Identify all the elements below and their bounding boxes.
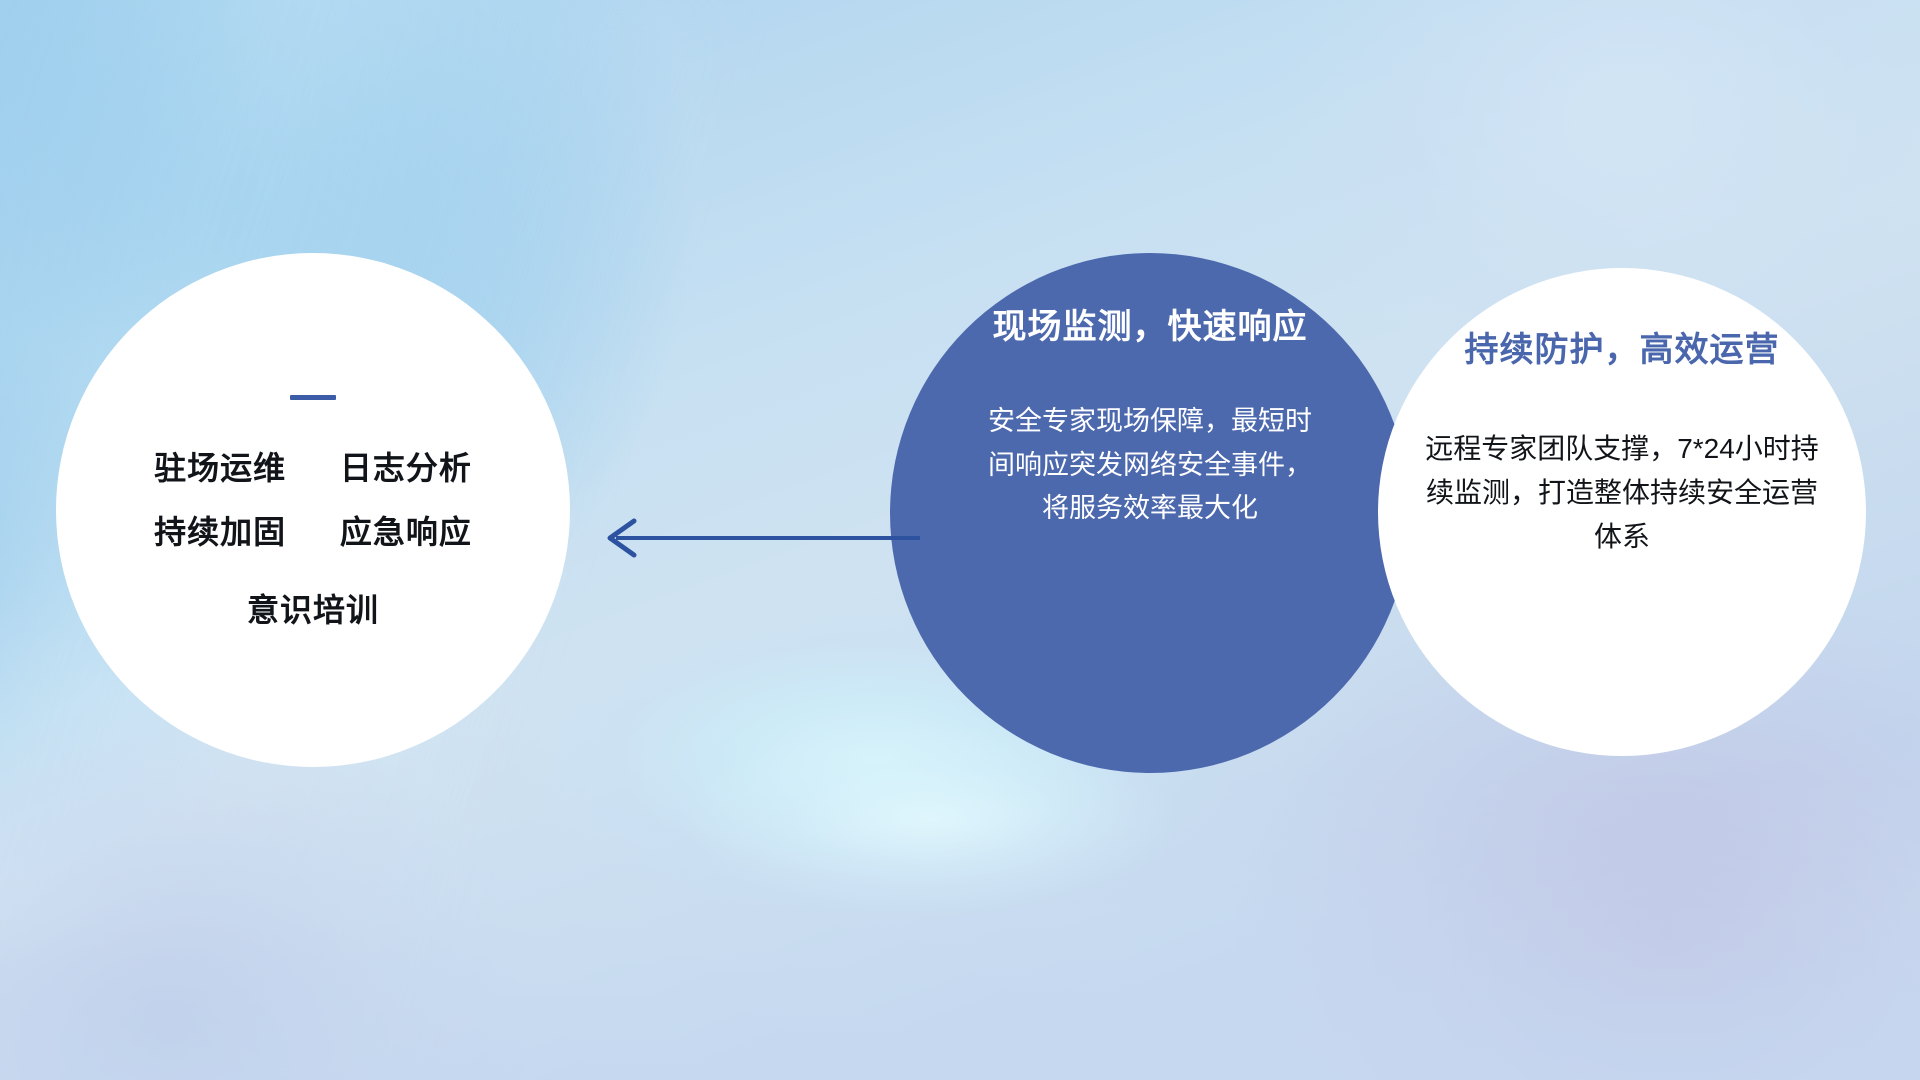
capability-tag: 持续加固 xyxy=(154,516,286,548)
right-circle-heading: 持续防护，高效运营 xyxy=(1465,322,1780,371)
horizontal-dash-icon xyxy=(290,395,336,400)
diagram-canvas: 现场监测，快速响应 安全专家现场保障，最短时间响应突发网络安全事件，将服务效率最… xyxy=(0,0,1920,1080)
right-circle-body-text: 远程专家团队支撑，7*24小时持续监测，打造整体持续安全运营体系 xyxy=(1415,427,1829,560)
right-circle-continuous-protection[interactable]: 持续防护，高效运营 远程专家团队支撑，7*24小时持续监测，打造整体持续安全运营… xyxy=(1378,268,1866,756)
center-circle-heading: 现场监测，快速响应 xyxy=(993,299,1308,348)
left-circle-line: 持续加固 应急响应 xyxy=(154,516,472,548)
left-circle-line: 驻场运维 日志分析 xyxy=(154,452,472,484)
capability-tag: 日志分析 xyxy=(340,452,472,484)
left-circle-service-capabilities[interactable]: 驻场运维 日志分析 持续加固 应急响应 意识培训 xyxy=(56,253,570,767)
center-circle-body-text: 安全专家现场保障，最短时间响应突发网络安全事件，将服务效率最大化 xyxy=(985,400,1315,531)
arrow-left-icon xyxy=(590,508,920,572)
capability-tag: 驻场运维 xyxy=(154,452,286,484)
center-circle-field-monitoring[interactable]: 现场监测，快速响应 安全专家现场保障，最短时间响应突发网络安全事件，将服务效率最… xyxy=(890,253,1410,773)
capability-tag: 意识培训 xyxy=(247,594,379,626)
left-circle-line: 意识培训 xyxy=(247,594,379,626)
capability-tag: 应急响应 xyxy=(340,516,472,548)
